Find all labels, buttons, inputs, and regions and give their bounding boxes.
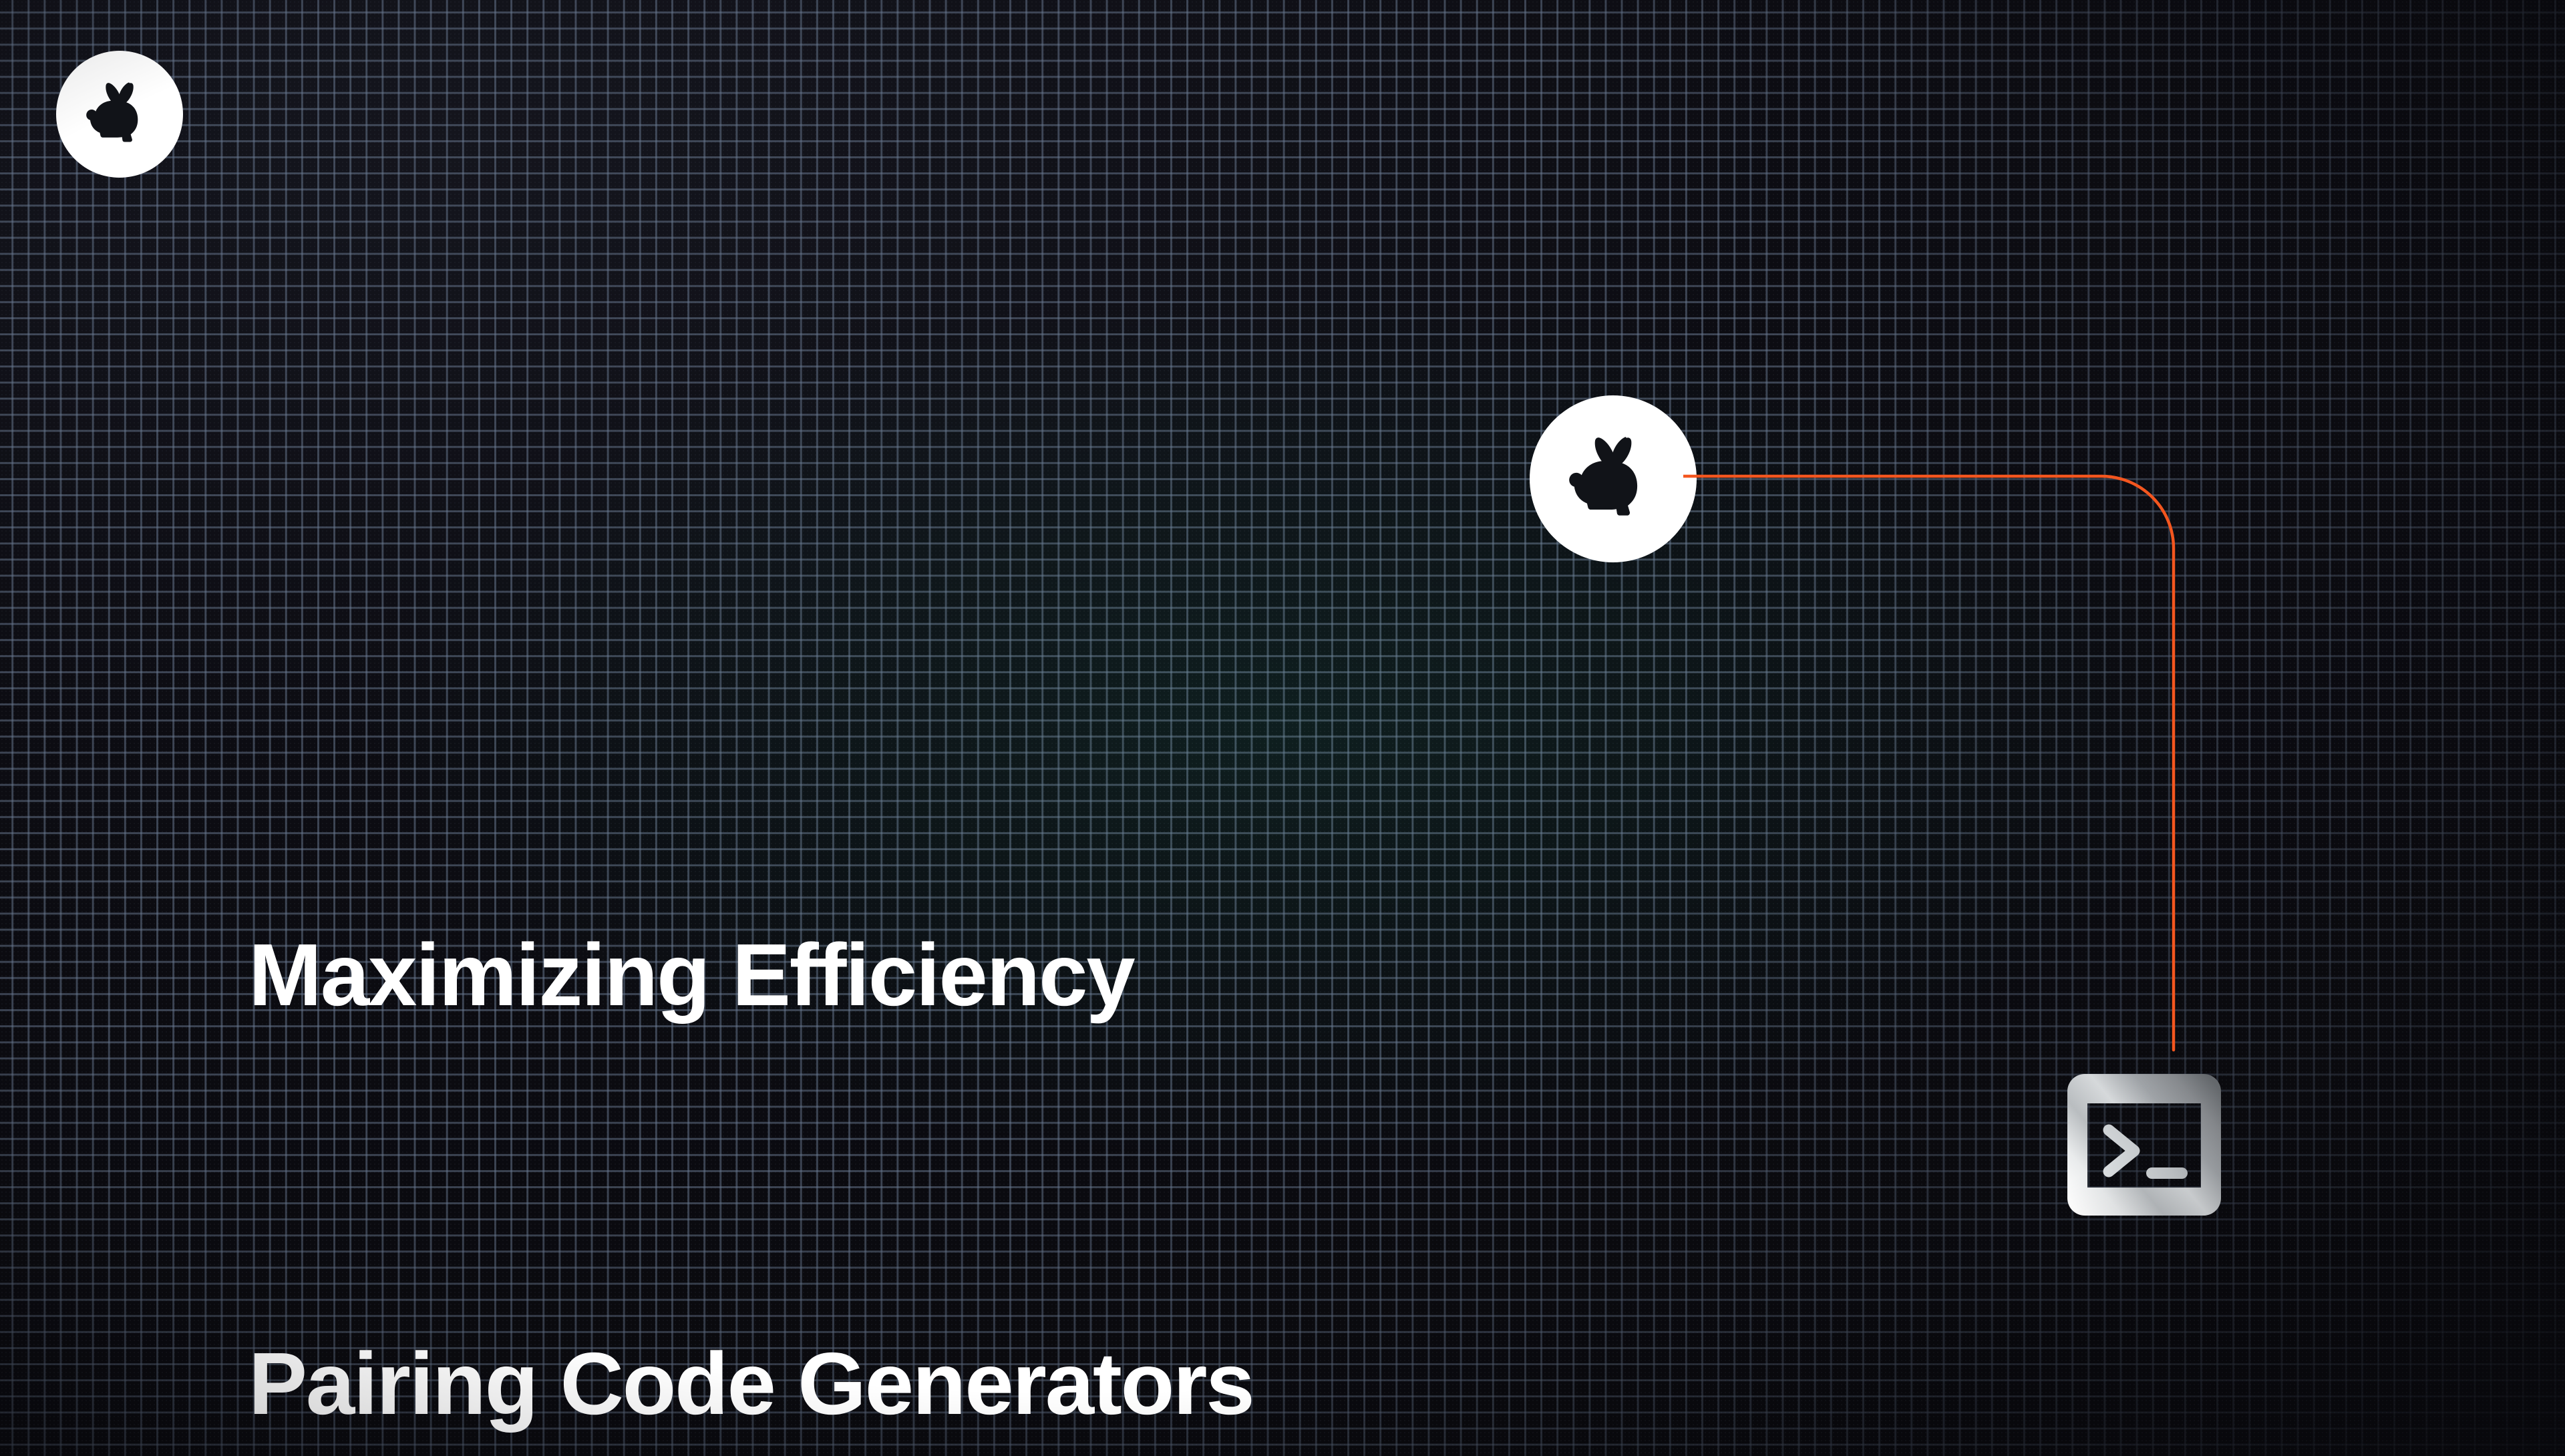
title-line-2: Pairing Code Generators xyxy=(248,1316,1584,1452)
hero-banner: Maximizing Efficiency Pairing Code Gener… xyxy=(0,0,2565,1456)
rabbit-icon xyxy=(82,77,157,152)
page-title: Maximizing Efficiency Pairing Code Gener… xyxy=(248,634,1584,1456)
title-line-1: Maximizing Efficiency xyxy=(248,907,1584,1043)
brand-logo-top-left[interactable] xyxy=(56,51,183,178)
brand-logo-center[interactable] xyxy=(1530,395,1697,562)
rabbit-icon xyxy=(1564,429,1663,528)
terminal-window-icon[interactable] xyxy=(2067,1074,2221,1216)
